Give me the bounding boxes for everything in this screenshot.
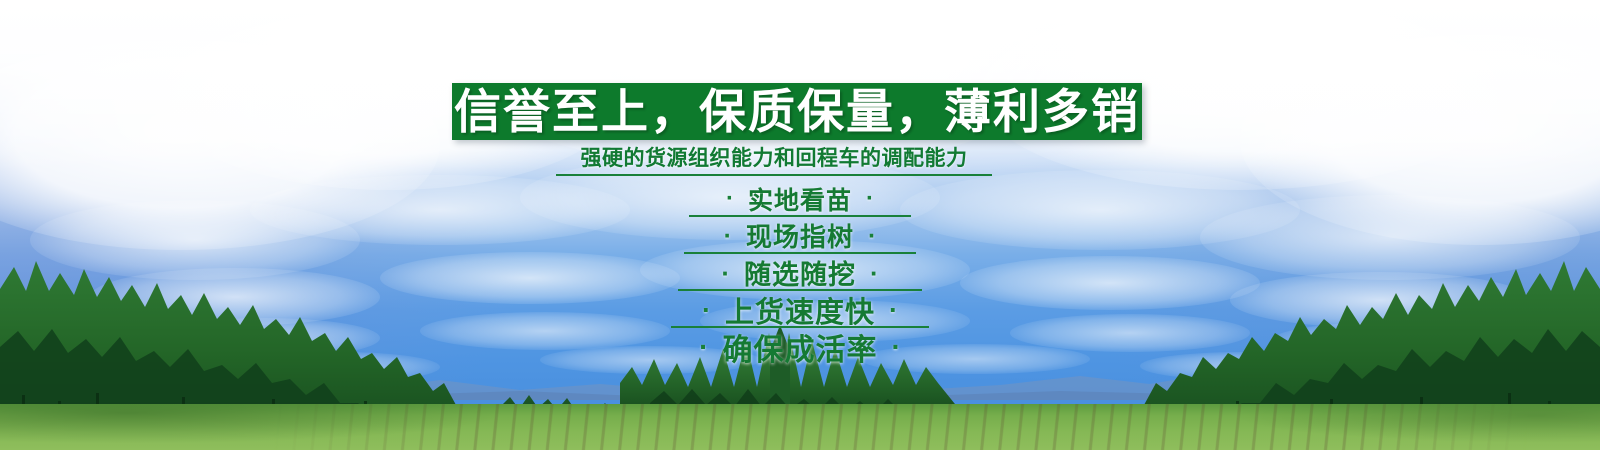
- feature-label: 随选随挖: [744, 253, 856, 292]
- headline-band: 信誉至上，保质保量，薄利多销: [452, 83, 1142, 140]
- feature-label: 实地看苗: [748, 181, 852, 217]
- feature-item: · 随选随挖 ·: [0, 254, 1600, 291]
- banner-text-content: 信誉至上，保质保量，薄利多销 强硬的货源组织能力和回程车的调配能力 · 实地看苗…: [0, 0, 1600, 450]
- feature-label: 现场指树: [746, 217, 854, 254]
- headline-text: 信誉至上，保质保量，薄利多销: [452, 83, 1142, 140]
- bullet-dot-left: ·: [702, 297, 711, 323]
- feature-item: · 确保成活率 ·: [0, 328, 1600, 365]
- bullet-dot-right: ·: [892, 334, 901, 360]
- bullet-dot-right: ·: [889, 297, 898, 323]
- feature-item: · 实地看苗 ·: [0, 180, 1600, 217]
- bullet-dot-left: ·: [724, 223, 732, 249]
- bullet-dot-left: ·: [726, 186, 734, 212]
- feature-item: · 现场指树 ·: [0, 217, 1600, 254]
- feature-label: 确保成活率: [723, 325, 878, 369]
- promo-banner: 信誉至上，保质保量，薄利多销 强硬的货源组织能力和回程车的调配能力 · 实地看苗…: [0, 0, 1600, 450]
- feature-list: · 实地看苗 · · 现场指树 · · 随选随挖 ·: [0, 180, 1600, 365]
- bullet-dot-right: ·: [866, 186, 874, 212]
- feature-item: · 上货速度快 ·: [0, 291, 1600, 328]
- bullet-dot-left: ·: [721, 260, 730, 286]
- bullet-dot-right: ·: [868, 223, 876, 249]
- bullet-dot-left: ·: [699, 334, 708, 360]
- bullet-dot-right: ·: [870, 260, 879, 286]
- subtitle-text: 强硬的货源组织能力和回程车的调配能力: [556, 146, 992, 176]
